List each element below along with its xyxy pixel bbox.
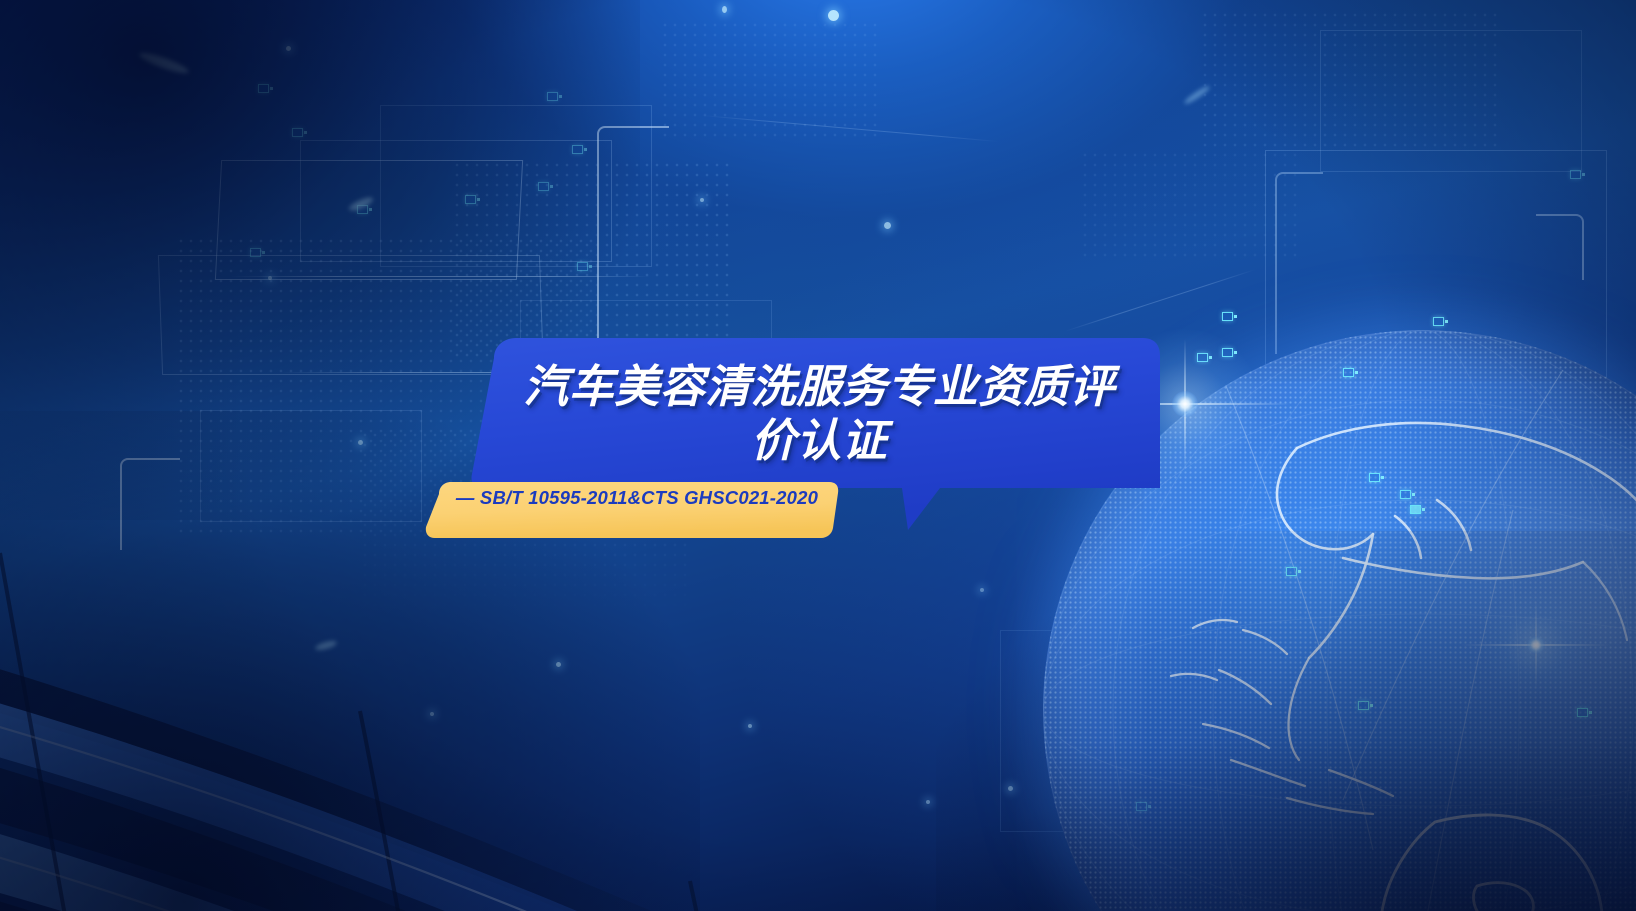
page-title: 汽车美容清洗服务专业资质评价认证 [508, 360, 1130, 468]
slide-canvas: 汽车美容清洗服务专业资质评价认证 — SB/T 10595-2011&CTS G… [0, 0, 1636, 911]
subtitle-standard-code: — SB/T 10595-2011&CTS GHSC021-2020 [448, 486, 826, 510]
title-callout: 汽车美容清洗服务专业资质评价认证 — SB/T 10595-2011&CTS G… [0, 0, 1636, 911]
